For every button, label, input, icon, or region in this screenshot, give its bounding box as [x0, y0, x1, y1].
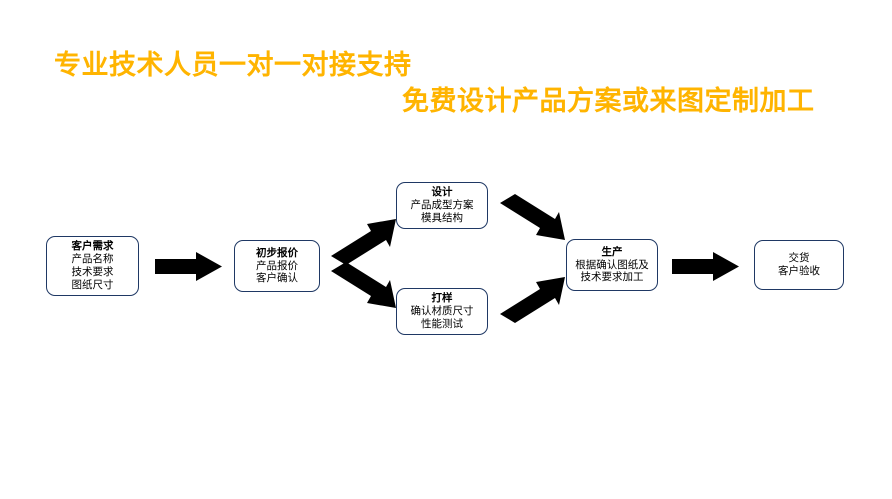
- connector-design-to-production: [500, 194, 565, 240]
- headline-secondary: 免费设计产品方案或来图定制加工: [402, 88, 815, 115]
- connector-sample-to-production: [500, 277, 565, 323]
- flow-node-requirement-line-1: 产品名称: [72, 253, 114, 266]
- connector-quote-to-sample: [331, 262, 396, 308]
- flow-node-design-title: 设计: [432, 186, 453, 199]
- flow-node-requirement-line-2: 技术要求: [72, 266, 114, 279]
- flow-node-sample-line-2: 性能测试: [421, 318, 463, 331]
- flow-node-requirement-line-3: 图纸尺寸: [72, 279, 114, 292]
- flow-node-requirement-title: 客户需求: [72, 240, 114, 253]
- flow-node-requirement[interactable]: 客户需求 产品名称 技术要求 图纸尺寸: [46, 236, 139, 296]
- connector-production-to-delivery: [672, 252, 739, 281]
- flow-node-delivery-line-1: 客户验收: [778, 265, 820, 278]
- flow-node-sample[interactable]: 打样 确认材质尺寸 性能测试: [396, 288, 488, 335]
- flow-node-delivery-title: 交货: [789, 252, 810, 265]
- flow-node-quote-line-2: 客户确认: [256, 272, 298, 285]
- flow-node-design-line-2: 模具结构: [421, 212, 463, 225]
- flow-node-sample-line-1: 确认材质尺寸: [411, 305, 474, 318]
- flow-node-design-line-1: 产品成型方案: [411, 199, 474, 212]
- flow-node-delivery[interactable]: 交货 客户验收: [754, 240, 844, 290]
- flow-node-production-line-1: 根据确认图纸及: [575, 259, 649, 272]
- flow-node-sample-title: 打样: [432, 292, 453, 305]
- slide-canvas: 专业技术人员一对一对接支持 免费设计产品方案或来图定制加工 客户需求: [0, 0, 892, 499]
- flow-node-quote[interactable]: 初步报价 产品报价 客户确认: [234, 240, 320, 292]
- flow-node-quote-line-1: 产品报价: [256, 260, 298, 273]
- flow-node-production[interactable]: 生产 根据确认图纸及 技术要求加工: [566, 239, 658, 291]
- flow-node-production-title: 生产: [602, 246, 623, 259]
- connector-requirement-to-quote: [155, 252, 222, 281]
- flow-node-design[interactable]: 设计 产品成型方案 模具结构: [396, 182, 488, 229]
- connector-quote-to-design: [331, 219, 396, 265]
- headline-primary: 专业技术人员一对一对接支持: [54, 52, 412, 79]
- flow-node-quote-title: 初步报价: [256, 247, 298, 260]
- flow-node-production-line-2: 技术要求加工: [581, 271, 644, 284]
